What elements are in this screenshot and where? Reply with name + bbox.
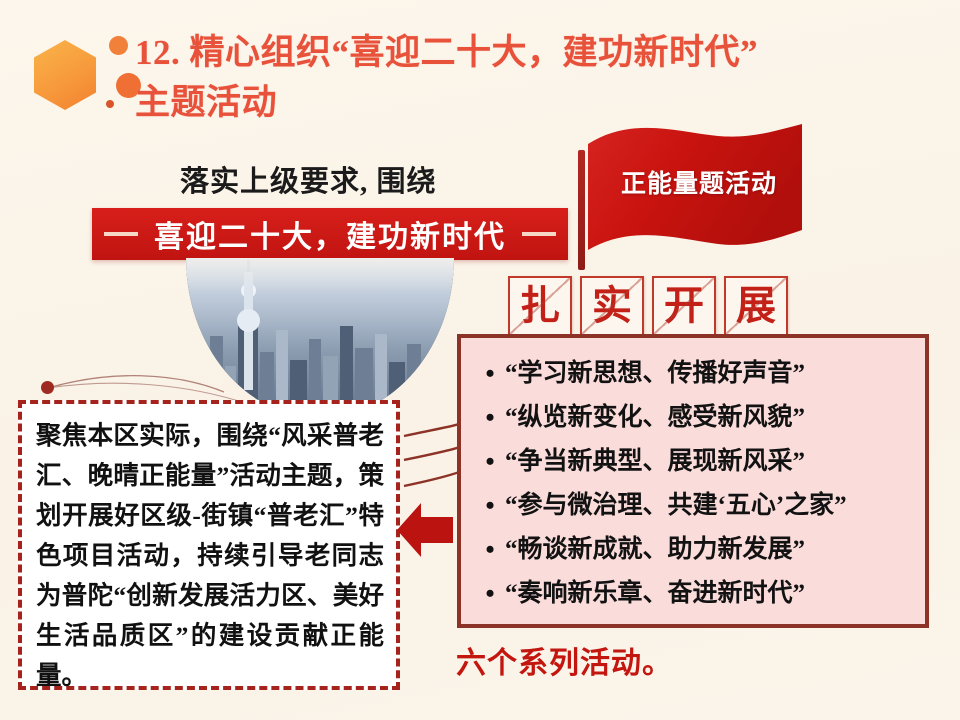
list-item: • “奏响新乐章、奋进新时代”	[475, 572, 925, 616]
building	[437, 352, 451, 418]
cell-diagonal-guide-icon	[726, 278, 786, 334]
flag-label: 正能量题活动	[604, 164, 794, 200]
bullet-icon: •	[475, 484, 505, 528]
slide-canvas: 12. 精心组织“喜迎二十大，建功新时代” 主题活动 落实上级要求, 围绕 喜迎…	[0, 0, 960, 720]
cell-diagonal-guide-icon	[510, 278, 570, 334]
left-arrow-icon	[395, 497, 455, 563]
anchor-dot-icon	[41, 381, 54, 394]
activity-list-panel: • “学习新思想、传播好声音” • “纵览新变化、感受新风貌” • “争当新典型…	[457, 334, 929, 628]
banner-label: 喜迎二十大，建功新时代	[154, 212, 506, 256]
list-item: • “畅谈新成就、助力新发展”	[475, 528, 925, 572]
banner-rule-left-icon	[104, 232, 138, 236]
building	[423, 368, 436, 418]
left-note-text: 聚焦本区实际，围绕“风采普老汇、晚晴正能量”活动主题，策划开展好区级-街镇“普老…	[36, 416, 384, 696]
circle-dot-tiny-icon	[106, 100, 114, 108]
list-item: • “纵览新变化、感受新风貌”	[475, 396, 925, 440]
bottom-caption: 六个系列活动。	[456, 638, 673, 682]
list-item: • “参与微治理、共建‘五心’之家”	[475, 484, 925, 528]
character-cell: 开	[652, 276, 716, 336]
subtitle-text: 落实上级要求, 围绕	[180, 158, 437, 200]
bullet-icon: •	[475, 352, 505, 396]
bullet-icon: •	[475, 528, 505, 572]
activity-list: • “学习新思想、传播好声音” • “纵览新变化、感受新风貌” • “争当新典型…	[461, 338, 925, 616]
list-item-label: “畅谈新成就、助力新发展”	[505, 528, 805, 572]
character-cell: 扎	[508, 276, 572, 336]
cell-diagonal-guide-icon	[582, 278, 642, 334]
list-item-label: “纵览新变化、感受新风貌”	[505, 396, 805, 440]
list-item-label: “争当新典型、展现新风采”	[505, 440, 805, 484]
character-cell: 实	[580, 276, 644, 336]
bullet-icon: •	[475, 396, 505, 440]
page-title: 12. 精心组织“喜迎二十大，建功新时代” 主题活动	[135, 28, 950, 128]
left-note-box: 聚焦本区实际，围绕“风采普老汇、晚晴正能量”活动主题，策划开展好区级-街镇“普老…	[18, 400, 400, 690]
hexagon-decoration	[30, 30, 145, 130]
list-item: • “争当新典型、展现新风采”	[475, 440, 925, 484]
hexagon-icon	[34, 40, 96, 110]
theme-banner: 喜迎二十大，建功新时代	[92, 208, 568, 260]
cell-diagonal-guide-icon	[654, 278, 714, 334]
character-cell: 展	[724, 276, 788, 336]
bullet-icon: •	[475, 440, 505, 484]
image-haze-overlay	[186, 258, 454, 418]
banner-rule-right-icon	[522, 232, 556, 236]
list-item-label: “参与微治理、共建‘五心’之家”	[505, 484, 847, 528]
list-item-label: “学习新思想、传播好声音”	[505, 352, 805, 396]
city-skyline-image	[186, 258, 454, 418]
slogan-character-cells: 扎 实 开 展	[508, 276, 788, 336]
bullet-icon: •	[475, 572, 505, 616]
list-item: • “学习新思想、传播好声音”	[475, 352, 925, 396]
list-item-label: “奏响新乐章、奋进新时代”	[505, 572, 805, 616]
circle-dot-small-icon	[109, 36, 128, 55]
